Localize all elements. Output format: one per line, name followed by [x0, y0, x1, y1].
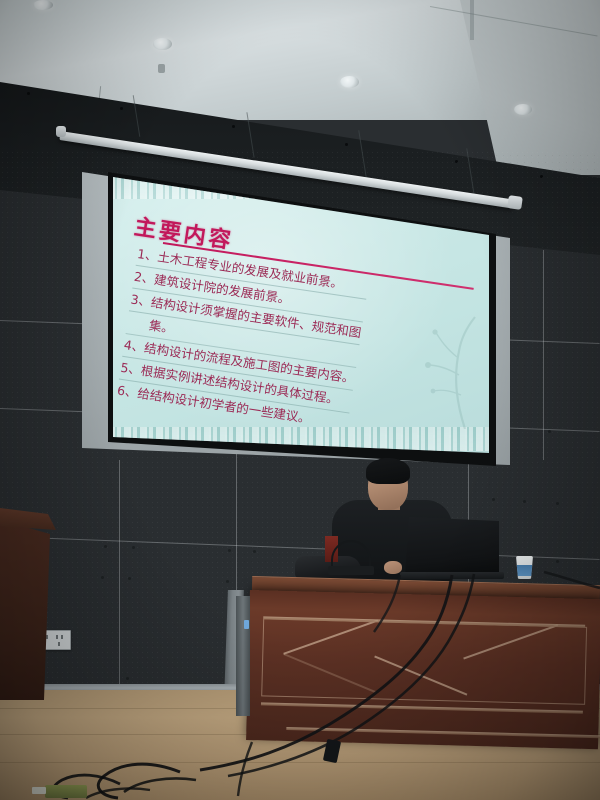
wall-anchor-dot: [228, 549, 231, 552]
downlight-icon: [514, 104, 532, 115]
podium: [246, 590, 600, 749]
laptop-screen[interactable]: [405, 517, 499, 575]
slide-content-list: 1、土木工程专业的发展及就业前景。 2、建筑设计院的发展前景。 3、结构设计须掌…: [116, 243, 370, 435]
indicator-light: [244, 620, 249, 629]
laptop-base[interactable]: [400, 572, 504, 579]
wall-panel-seam: [543, 250, 544, 460]
podium-side-column: [236, 596, 250, 716]
wall-anchor-dot: [126, 677, 129, 680]
wall-anchor-dot: [253, 550, 256, 553]
podium-trim: [286, 727, 600, 738]
sprinkler-icon: [158, 64, 165, 73]
wall-anchor-dot: [132, 546, 135, 549]
ceiling-seam: [470, 0, 474, 40]
wall-anchor-dot: [226, 580, 229, 583]
branch-watermark: [395, 299, 485, 429]
microphone-base: [328, 566, 374, 575]
downlight-icon: [340, 76, 359, 88]
floor-adapter: [45, 785, 87, 798]
fascia-dot: [120, 107, 123, 110]
fascia-dot: [232, 125, 235, 128]
wall-anchor-dot: [548, 430, 551, 433]
adapter-plug: [32, 787, 46, 794]
housing-end-cap: [507, 195, 523, 210]
wall-anchor-dot: [523, 500, 526, 503]
wall-anchor-dot: [556, 560, 559, 563]
wall-anchor-dot: [101, 576, 104, 579]
wall-panel-seam: [119, 460, 120, 700]
fascia-dot: [27, 92, 30, 95]
side-lectern: [0, 520, 50, 700]
downlight-icon: [33, 0, 53, 10]
ceiling-right-section: [460, 0, 600, 175]
fascia-dot: [345, 143, 348, 146]
paper-cup: [516, 556, 533, 579]
housing-end-cap: [56, 126, 66, 137]
item-text: 集。: [148, 317, 175, 335]
lecture-hall-photo: 主要内容 1、土木工程专业的发展及就业前景。 2、建筑设计院的发展前景。 3、结…: [0, 0, 600, 800]
wall-anchor-dot: [104, 545, 107, 548]
wall-anchor-dot: [492, 498, 495, 501]
wall-anchor-dot: [556, 502, 559, 505]
wall-anchor-dot: [128, 577, 131, 580]
podium-trim: [261, 702, 583, 713]
downlight-icon: [153, 38, 172, 50]
presenter-hair: [366, 458, 410, 484]
